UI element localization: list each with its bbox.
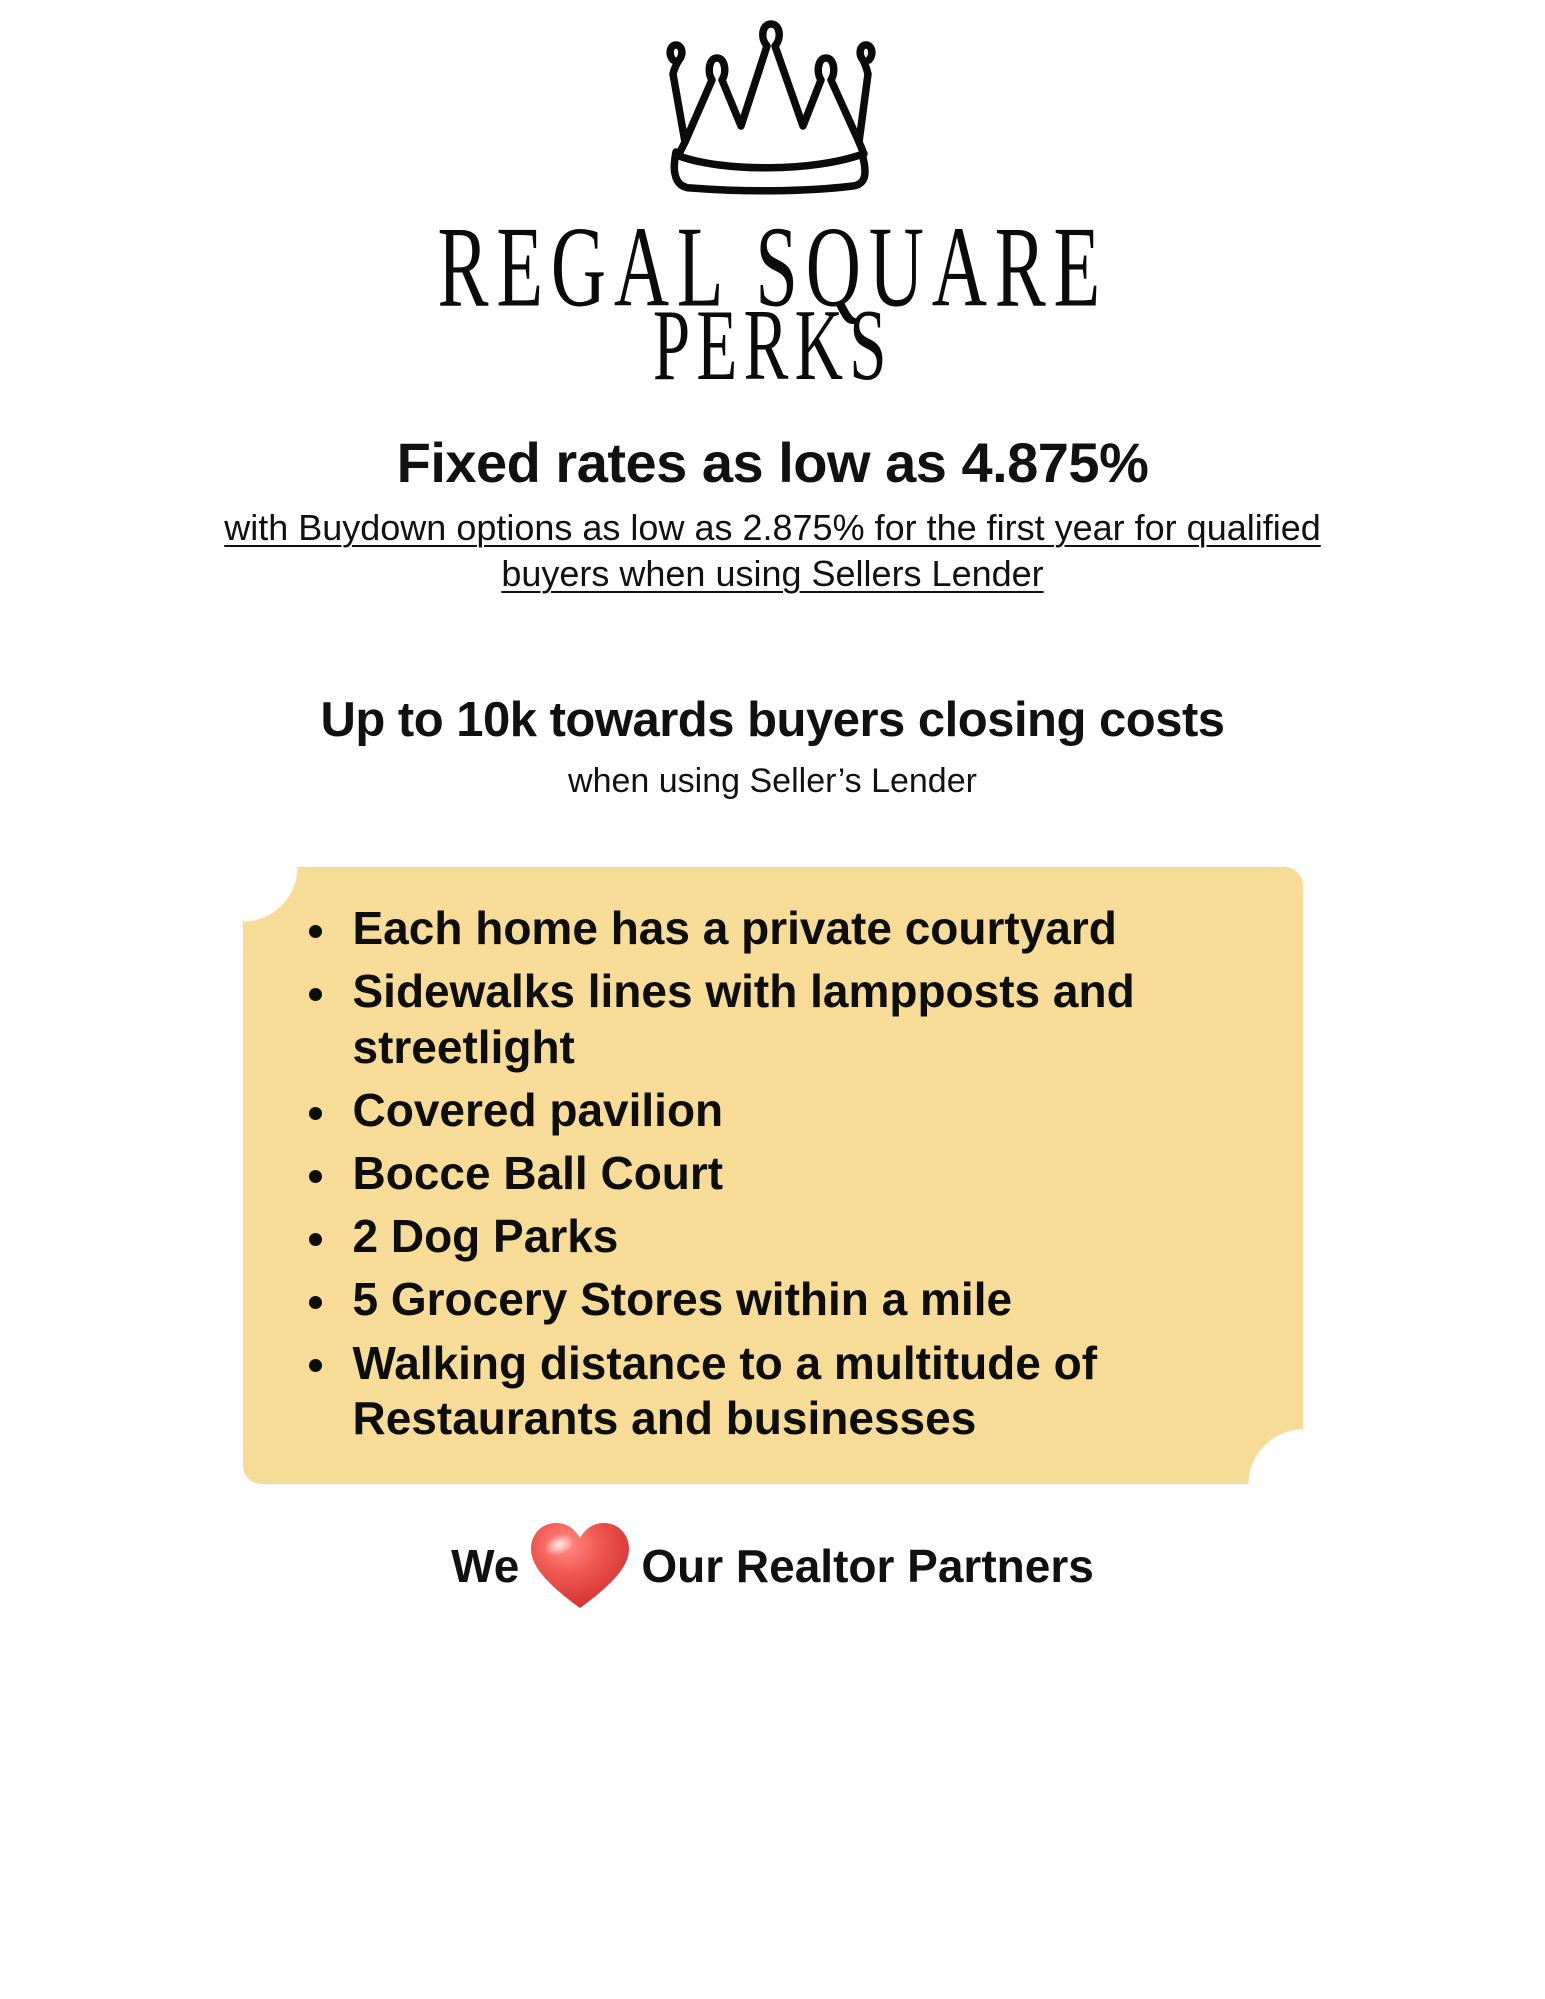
bullet-icon	[309, 1107, 322, 1120]
list-item: Bocce Ball Court	[291, 1146, 1255, 1201]
closing-costs-headline: Up to 10k towards buyers closing costs	[0, 693, 1545, 748]
footer-text-after: Our Realtor Partners	[641, 1539, 1093, 1593]
list-item: 2 Dog Parks	[291, 1209, 1255, 1264]
crown-icon	[613, 14, 933, 204]
list-item: Covered pavilion	[291, 1083, 1255, 1138]
bullet-icon	[309, 925, 322, 938]
list-item-label: Bocce Ball Court	[353, 1147, 724, 1199]
offer-rates: Fixed rates as low as 4.875% with Buydow…	[0, 380, 1545, 597]
list-item-label: 2 Dog Parks	[353, 1210, 619, 1262]
list-item-label: Covered pavilion	[353, 1084, 724, 1136]
offer-closing-costs: Up to 10k towards buyers closing costs w…	[0, 597, 1545, 803]
list-item: Walking distance to a multitude of Resta…	[291, 1336, 1255, 1446]
rates-subtext: with Buydown options as low as 2.875% fo…	[213, 505, 1333, 597]
list-item: 5 Grocery Stores within a mile	[291, 1272, 1255, 1327]
rates-headline: Fixed rates as low as 4.875%	[0, 432, 1545, 495]
list-item-label: Sidewalks lines with lampposts and stree…	[353, 965, 1135, 1072]
flyer-page: REGAL SQUARE PERKS Fixed rates as low as…	[0, 0, 1545, 1999]
bullet-icon	[309, 1170, 322, 1183]
bullet-icon	[309, 1359, 322, 1372]
closing-costs-subtext: when using Seller’s Lender	[213, 760, 1333, 804]
bullet-icon	[309, 988, 322, 1001]
perks-card: Each home has a private courtyard Sidewa…	[243, 867, 1303, 1484]
list-item-label: Walking distance to a multitude of Resta…	[353, 1337, 1098, 1444]
list-item-label: 5 Grocery Stores within a mile	[353, 1273, 1013, 1325]
list-item: Each home has a private courtyard	[291, 901, 1255, 956]
list-item: Sidewalks lines with lampposts and stree…	[291, 964, 1255, 1074]
footer-text-before: We	[451, 1539, 519, 1593]
brand-subtitle: PERKS	[653, 294, 893, 395]
realtor-partners-line: We Our Realtor Partners	[451, 1518, 1094, 1614]
bullet-icon	[309, 1296, 322, 1309]
perks-list: Each home has a private courtyard Sidewa…	[291, 901, 1255, 1446]
list-item-label: Each home has a private courtyard	[353, 902, 1117, 954]
heart-icon	[525, 1518, 635, 1614]
bullet-icon	[309, 1233, 322, 1246]
